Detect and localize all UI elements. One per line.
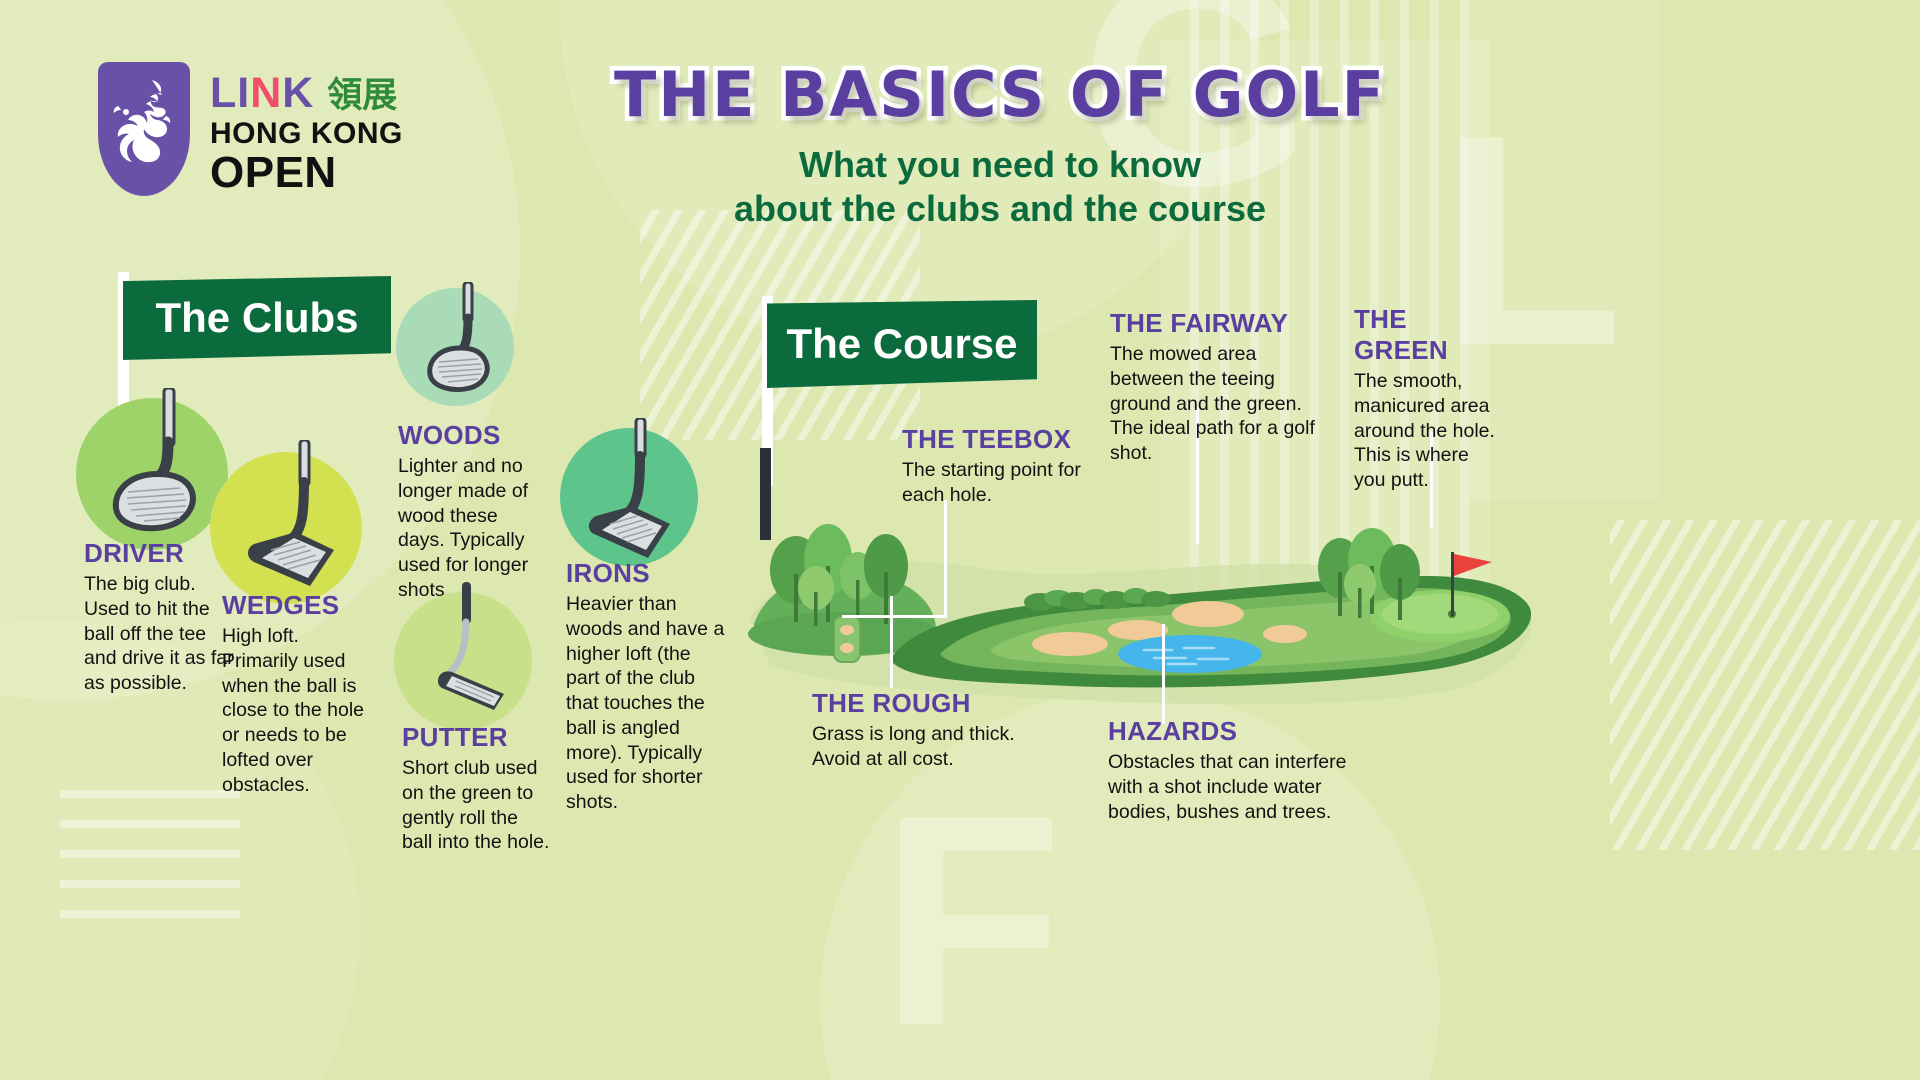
page-title: THE BASICS OF GOLF (540, 62, 1460, 127)
logo-wordmark: LINK 領展 HONG KONG OPEN (210, 72, 420, 195)
green-label: THE GREEN The smooth, manicured area aro… (1354, 304, 1504, 493)
course-banner-label: The Course (786, 320, 1017, 368)
logo-open: OPEN (210, 151, 420, 195)
hazards-label: HAZARDS Obstacles that can interfere wit… (1108, 716, 1348, 824)
fairway-label: THE FAIRWAY The mowed area between the t… (1110, 308, 1326, 466)
logo-link-row: LINK 領展 (210, 72, 420, 115)
infographic-canvas: G L F LINK 領展 HONG KONG OPEN T (0, 0, 1920, 1080)
logo-link-cjk: 領展 (327, 76, 397, 115)
logo-link-n: N (250, 69, 282, 117)
hazards-body: Obstacles that can interfere with a shot… (1108, 750, 1348, 824)
rough-title: THE ROUGH (812, 688, 1022, 719)
bg-rect-3 (60, 790, 240, 798)
leader-line-hazards (1162, 624, 1165, 724)
teebox-body: The starting point for each hole. (902, 458, 1082, 508)
course-flag-cloth: The Course (767, 300, 1037, 388)
fairway-body: The mowed area between the teeing ground… (1110, 342, 1326, 466)
bunker-4 (1263, 625, 1307, 643)
fairway-title: THE FAIRWAY (1110, 308, 1326, 339)
green-title: THE GREEN (1354, 304, 1504, 366)
putter-label: PUTTER Short club used on the green to g… (402, 722, 552, 855)
bunker-1 (1032, 632, 1108, 656)
driver-club-icon (106, 388, 216, 538)
water-hazard (1118, 635, 1262, 673)
wedge-club-icon (238, 440, 348, 590)
dragon-shield-icon (98, 62, 190, 196)
bg-rect-7 (60, 910, 240, 918)
driver-label: DRIVER The big club. Used to hit the bal… (84, 538, 234, 696)
irons-title: IRONS (566, 558, 726, 589)
bg-rect-5 (60, 850, 240, 858)
putter-club-icon (412, 582, 522, 722)
irons-label: IRONS Heavier than woods and have a high… (566, 558, 726, 815)
woods-label: WOODS Lighter and no longer made of wood… (398, 420, 548, 603)
woods-title: WOODS (398, 420, 548, 451)
bg-rect-4 (60, 820, 240, 828)
link-hong-kong-open-logo: LINK 領展 HONG KONG OPEN (98, 62, 418, 212)
bunker-3 (1172, 601, 1244, 627)
putter-body: Short club used on the green to gently r… (402, 756, 552, 855)
logo-hong-kong: HONG KONG (210, 117, 420, 151)
rough-body: Grass is long and thick. Avoid at all co… (812, 722, 1022, 772)
clubs-flag-cloth: The Clubs (123, 276, 391, 360)
leader-line-teebox-h (842, 615, 947, 618)
bg-ghost-letter-f: F (880, 800, 1057, 1040)
headline-block: THE BASICS OF GOLF What you need to know… (540, 62, 1460, 231)
wedges-label: WEDGES High loft. Primarily used when th… (222, 590, 370, 797)
wedges-title: WEDGES (222, 590, 370, 621)
wedges-body: High loft. Primarily used when the ball … (222, 624, 370, 797)
bg-rect-6 (60, 880, 240, 888)
leader-line-teebox-v (944, 500, 947, 618)
irons-body: Heavier than woods and have a higher lof… (566, 592, 726, 815)
clubs-banner-label: The Clubs (155, 294, 358, 342)
bg-diagonal-stripes-right (1610, 520, 1920, 850)
page-subtitle-line2: about the clubs and the course (540, 187, 1460, 231)
driver-body: The big club. Used to hit the ball off t… (84, 572, 234, 696)
logo-link-li: LI (210, 69, 250, 117)
teebox-title: THE TEEBOX (902, 424, 1082, 455)
leader-line-rough (890, 596, 893, 688)
green-body: The smooth, manicured area around the ho… (1354, 369, 1504, 493)
page-subtitle-line1: What you need to know (540, 143, 1460, 187)
iron-club-icon (580, 418, 690, 563)
page-subtitle: What you need to know about the clubs an… (540, 143, 1460, 231)
putter-title: PUTTER (402, 722, 552, 753)
wood-club-icon (420, 282, 510, 407)
hazards-title: HAZARDS (1108, 716, 1348, 747)
teebox-label: THE TEEBOX The starting point for each h… (902, 424, 1082, 508)
rough-label: THE ROUGH Grass is long and thick. Avoid… (812, 688, 1022, 772)
woods-body: Lighter and no longer made of wood these… (398, 454, 548, 603)
logo-link-k: K (282, 69, 314, 117)
